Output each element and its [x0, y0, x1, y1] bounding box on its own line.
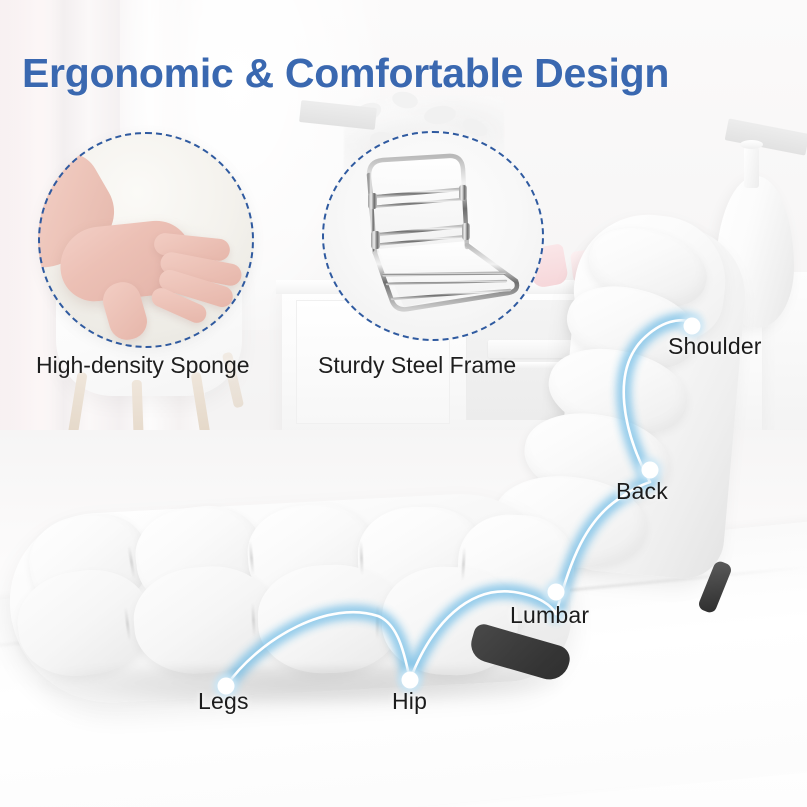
ergo-label-lumbar: Lumbar — [510, 602, 589, 629]
ergo-label-shoulder: Shoulder — [668, 333, 762, 360]
seat-contact-shadow — [40, 667, 560, 707]
tuft-seam — [376, 605, 380, 639]
page-title: Ergonomic & Comfortable Design — [22, 50, 669, 97]
ergo-label-legs: Legs — [198, 688, 249, 715]
ergo-label-hip: Hip — [392, 688, 427, 715]
marketing-infographic: Legs Hip Lumbar Back Shoulder High-densi… — [0, 0, 807, 807]
vase-lip — [740, 140, 763, 149]
callout-ring-sponge — [38, 132, 254, 348]
callout-ring-steel-frame — [322, 131, 544, 341]
ergo-label-back: Back — [616, 478, 668, 505]
vase-neck — [744, 144, 759, 188]
feature-label-steel-frame: Sturdy Steel Frame — [318, 352, 516, 379]
feature-label-sponge: High-density Sponge — [36, 352, 250, 379]
